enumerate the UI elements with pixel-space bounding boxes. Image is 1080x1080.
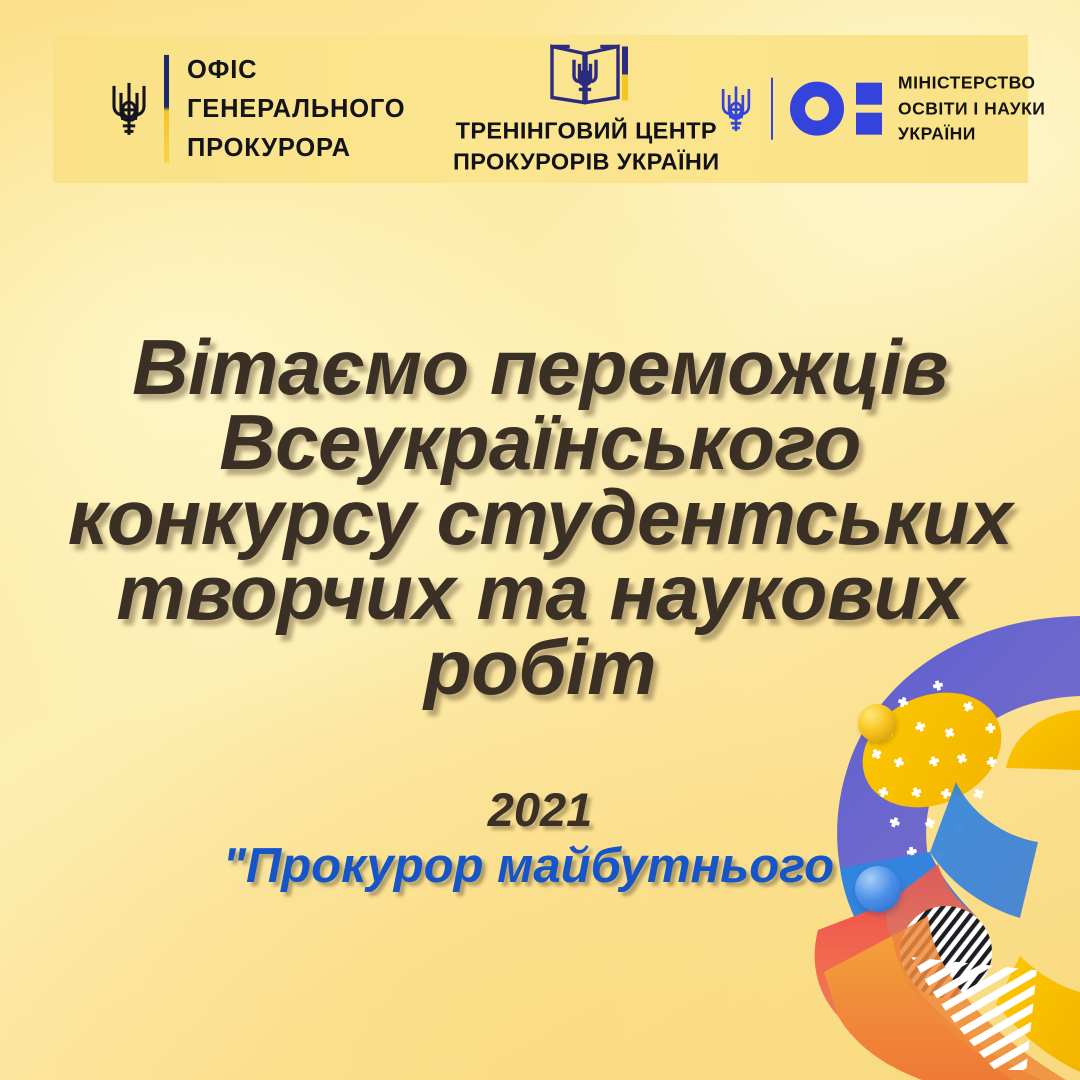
mon-label: МІНІСТЕРСТВО ОСВІТИ І НАУКИ УКРАЇНИ (898, 71, 1045, 148)
headline-line-5: робіт (30, 630, 1050, 705)
headline-line-2: Всеукраїнського (30, 405, 1050, 480)
mon-line-1: МІНІСТЕРСТВО (898, 71, 1045, 97)
gold-sphere-icon (858, 704, 896, 742)
squares-icon (856, 83, 882, 135)
headline-line-1: Вітаємо переможців (30, 330, 1050, 405)
pgo-line-2: ГЕНЕРАЛЬНОГО (187, 90, 405, 129)
logo-training-centre: ТРЕНІНГОВИЙ ЦЕНТР ПРОКУРОРІВ УКРАЇНИ (453, 40, 720, 177)
pgo-label: ОФІС ГЕНЕРАЛЬНОГО ПРОКУРОРА (187, 51, 405, 167)
tryzub-icon (718, 82, 754, 136)
logo-ministry-education: МІНІСТЕРСТВО ОСВІТИ І НАУКИ УКРАЇНИ (718, 71, 1045, 148)
tcpu-label: ТРЕНІНГОВИЙ ЦЕНТР ПРОКУРОРІВ УКРАЇНИ (453, 115, 720, 177)
tcpu-line-1: ТРЕНІНГОВИЙ ЦЕНТР (453, 115, 720, 146)
pgo-line-1: ОФІС (187, 51, 405, 90)
headline-line-3: конкурсу студентських (30, 480, 1050, 555)
year-label: 2021 (0, 782, 1080, 837)
logo-band: ОФІС ГЕНЕРАЛЬНОГО ПРОКУРОРА (53, 35, 1028, 183)
arc-lower (824, 916, 1080, 1080)
halftone-circle (900, 906, 992, 998)
logo-prosecutor-general-office: ОФІС ГЕНЕРАЛЬНОГО ПРОКУРОРА (108, 51, 405, 167)
white-stripes (833, 950, 1037, 1080)
open-book-tryzub-icon (530, 40, 642, 115)
blue-sphere-icon (855, 866, 901, 912)
tcpu-line-2: ПРОКУРОРІВ УКРАЇНИ (453, 147, 720, 178)
pgo-line-3: ПРОКУРОРА (187, 128, 405, 167)
mon-ring-squares-icon (790, 82, 882, 136)
square-top (856, 83, 882, 105)
poster-canvas: ОФІС ГЕНЕРАЛЬНОГО ПРОКУРОРА (0, 0, 1080, 1080)
contest-name-label: "Прокурор майбутнього" (0, 838, 1080, 894)
tryzub-icon (108, 79, 150, 139)
square-bottom (856, 113, 882, 135)
mon-line-2: ОСВІТИ І НАУКИ (898, 96, 1045, 122)
flag-divider-bar (164, 55, 169, 163)
headline: Вітаємо переможців Всеукраїнського конку… (0, 330, 1080, 705)
headline-line-4: творчих та наукових (30, 555, 1050, 630)
ring-icon (790, 82, 844, 136)
vertical-divider (771, 78, 773, 140)
mon-line-3: УКРАЇНИ (898, 122, 1045, 148)
